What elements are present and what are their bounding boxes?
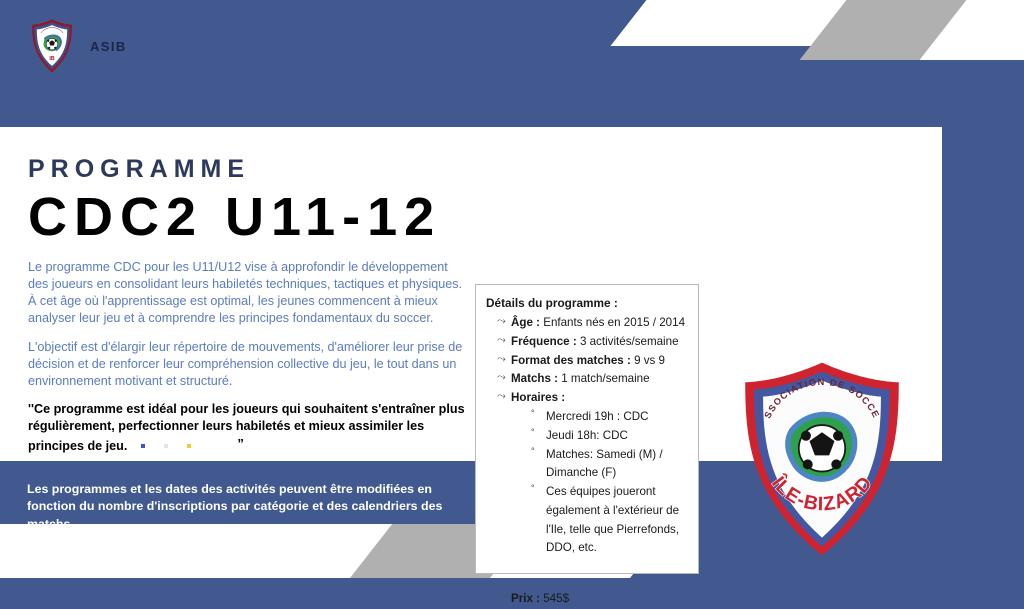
list-marker-icon: ⤳	[497, 369, 506, 387]
detail-value: 9 vs 9	[631, 354, 665, 367]
brand-name: ASIB	[90, 39, 127, 54]
closing-quote-mark: ”	[237, 436, 244, 451]
quote-text: ''Ce programme est idéal pour les joueur…	[28, 402, 465, 453]
left-column: PROGRAMME CDC2 U11-12 Le programme CDC p…	[28, 157, 468, 455]
sub-list-marker-icon: °	[531, 425, 535, 440]
club-crest-large: ASSOCIATION DE SOCCER ÎLE-BIZARD	[727, 359, 917, 564]
price-label: Prix :	[511, 592, 540, 605]
detail-label: Âge :	[511, 316, 540, 329]
detail-label: Matchs :	[511, 372, 558, 385]
decor-dots	[141, 444, 191, 448]
detail-item-horaires: ⤳ Horaires : ° Mercredi 19h : CDC ° Jeud…	[497, 389, 688, 558]
intro-paragraph-2: L'objectif est d'élargir leur répertoire…	[28, 339, 468, 389]
detail-label: Format des matches :	[511, 354, 631, 367]
detail-label: Fréquence :	[511, 335, 577, 348]
list-marker-icon: ⤳	[497, 332, 506, 350]
kicker-label: PROGRAMME	[28, 157, 468, 182]
program-details-box: Détails du programme : ⤳ Âge : Enfants n…	[475, 284, 699, 574]
svg-text:IB: IB	[49, 56, 54, 62]
schedule-text: Mercredi 19h : CDC	[546, 410, 648, 423]
details-list: ⤳ Âge : Enfants nés en 2015 / 2014 ⤳ Fré…	[497, 314, 688, 609]
page-title: CDC2 U11-12	[28, 188, 468, 246]
detail-item-matchs: ⤳ Matchs : 1 match/semaine	[497, 370, 688, 389]
schedule-list: ° Mercredi 19h : CDC ° Jeudi 18h: CDC ° …	[531, 408, 688, 558]
schedule-text: Matches: Samedi (M) / Dimanche (F)	[546, 448, 663, 480]
sub-list-marker-icon: °	[531, 444, 535, 459]
list-marker-icon: ⤳	[497, 388, 506, 406]
content-panel: PROGRAMME CDC2 U11-12 Le programme CDC p…	[0, 127, 942, 461]
list-marker-icon: ⤳	[497, 313, 506, 331]
list-marker-icon: ⤳	[497, 589, 506, 607]
schedule-item: ° Ces équipes joueront également à l'ext…	[531, 483, 688, 558]
detail-value: Enfants nés en 2015 / 2014	[540, 316, 685, 329]
decor-shape-top-right-white-2	[920, 0, 1024, 60]
footer-note: Les programmes et les dates des activité…	[27, 481, 467, 533]
dot-yellow	[187, 444, 191, 448]
sub-list-marker-icon: °	[531, 406, 535, 421]
page-header: IB ASIB	[28, 18, 127, 74]
list-marker-icon: ⤳	[497, 351, 506, 369]
intro-paragraph-1: Le programme CDC pour les U11/U12 vise à…	[28, 259, 468, 326]
detail-item-age: ⤳ Âge : Enfants nés en 2015 / 2014	[497, 314, 688, 333]
asib-club-crest-icon: IB	[28, 18, 76, 74]
decor-shape-top-right-white-1	[610, 0, 908, 46]
decor-shape-top-right-gray	[800, 0, 1008, 60]
detail-item-frequence: ⤳ Fréquence : 3 activités/semaine	[497, 333, 688, 352]
details-title: Détails du programme :	[486, 294, 688, 313]
schedule-item: ° Matches: Samedi (M) / Dimanche (F)	[531, 446, 688, 484]
schedule-item: ° Jeudi 18h: CDC	[531, 427, 688, 446]
detail-value: 1 match/semaine	[558, 372, 650, 385]
schedule-item: ° Mercredi 19h : CDC	[531, 408, 688, 427]
dot-gray	[164, 444, 168, 448]
schedule-text: Jeudi 18h: CDC	[546, 429, 628, 442]
schedule-text: Ces équipes joueront également à l'extér…	[546, 485, 679, 554]
detail-value: 3 activités/semaine	[577, 335, 679, 348]
testimonial-quote: ''Ce programme est idéal pour les joueur…	[28, 401, 468, 455]
detail-label: Horaires :	[511, 391, 565, 404]
detail-item-format: ⤳ Format des matches : 9 vs 9	[497, 352, 688, 371]
sub-list-marker-icon: °	[531, 481, 535, 496]
detail-item-prix: ⤳ Prix : 545$	[497, 590, 688, 609]
dot-blue	[141, 444, 145, 448]
price-value: 545$	[540, 592, 569, 605]
